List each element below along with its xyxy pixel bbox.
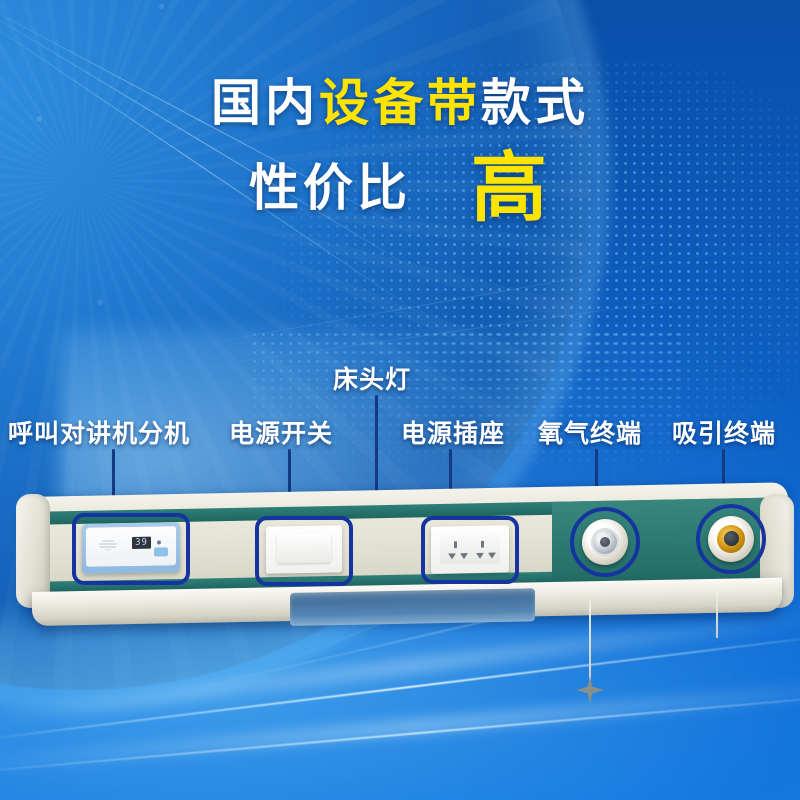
highlight-circle-oxygen <box>570 507 640 577</box>
headline-line1-highlight: 设备带 <box>319 74 481 132</box>
bed-light-diffuser[interactable] <box>290 588 535 626</box>
headline-line-1: 国内设备带款式 <box>0 78 800 128</box>
headline-line-2: 性价比 高 <box>0 150 800 226</box>
callout-label-intercom: 呼叫对讲机分机 <box>8 414 190 450</box>
highlight-box-power-socket <box>421 516 519 584</box>
headline-line1-suffix: 款式 <box>481 74 589 132</box>
bed-head-unit: 39 <box>22 497 788 642</box>
highlight-box-intercom <box>72 513 190 585</box>
callout-label-suction-terminal: 吸引终端 <box>672 414 776 450</box>
highlight-box-power-switch <box>255 516 353 586</box>
callout-label-power-switch: 电源开关 <box>229 414 333 450</box>
highlight-circle-suction <box>696 504 766 574</box>
halftone-world-map-lower <box>250 330 680 490</box>
callout-label-bed-light: 床头灯 <box>333 360 411 396</box>
suction-pull-cord <box>716 592 718 638</box>
headline-line2-text: 性价比 <box>249 163 411 213</box>
headline-block: 国内设备带款式 性价比 高 <box>0 78 800 226</box>
promo-banner: 国内设备带款式 性价比 高 呼叫对讲机分机 电源开关 床头灯 电源插座 氧气终端… <box>0 0 800 800</box>
callout-label-power-socket: 电源插座 <box>401 414 505 450</box>
headline-line2-highlight: 高 <box>471 150 551 226</box>
headline-line1-prefix: 国内 <box>211 74 319 132</box>
callout-label-oxygen-terminal: 氧气终端 <box>538 414 642 450</box>
oxygen-pull-cord <box>589 600 591 682</box>
